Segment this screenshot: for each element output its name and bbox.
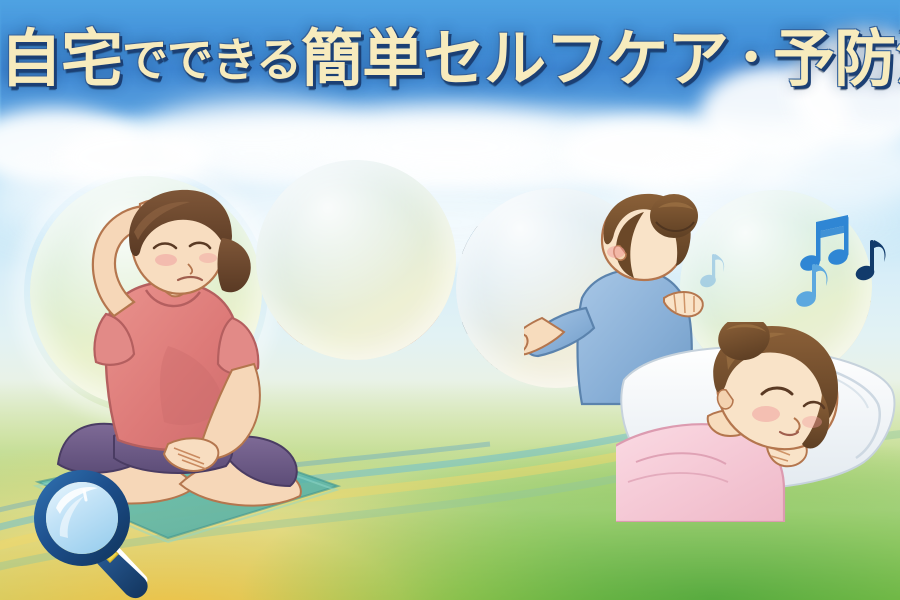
music-notes-group: [786, 212, 890, 312]
title-segment-0: 自宅: [0, 22, 122, 95]
music-note-faint-icon: [690, 250, 730, 296]
title-segment-4: 予防法: [773, 22, 900, 95]
art-sleeping-woman: [616, 322, 900, 522]
eighth-note-dark-icon: [854, 240, 886, 283]
title-segment-1: でできる: [122, 33, 301, 87]
cloud-puff-3: [150, 100, 360, 170]
page-title: 自宅でできる簡単セルフケア・予防法: [0, 28, 900, 90]
title-segment-3: ・: [728, 31, 773, 85]
beamed-eighth-note-icon: [798, 215, 850, 273]
eighth-note-light-icon: [794, 264, 827, 309]
magnifying-glass-icon[interactable]: [26, 466, 162, 600]
title-segment-2: 簡単セルフケア: [301, 22, 728, 95]
poster-canvas: 自宅でできる簡単セルフケア・予防法: [0, 0, 900, 600]
